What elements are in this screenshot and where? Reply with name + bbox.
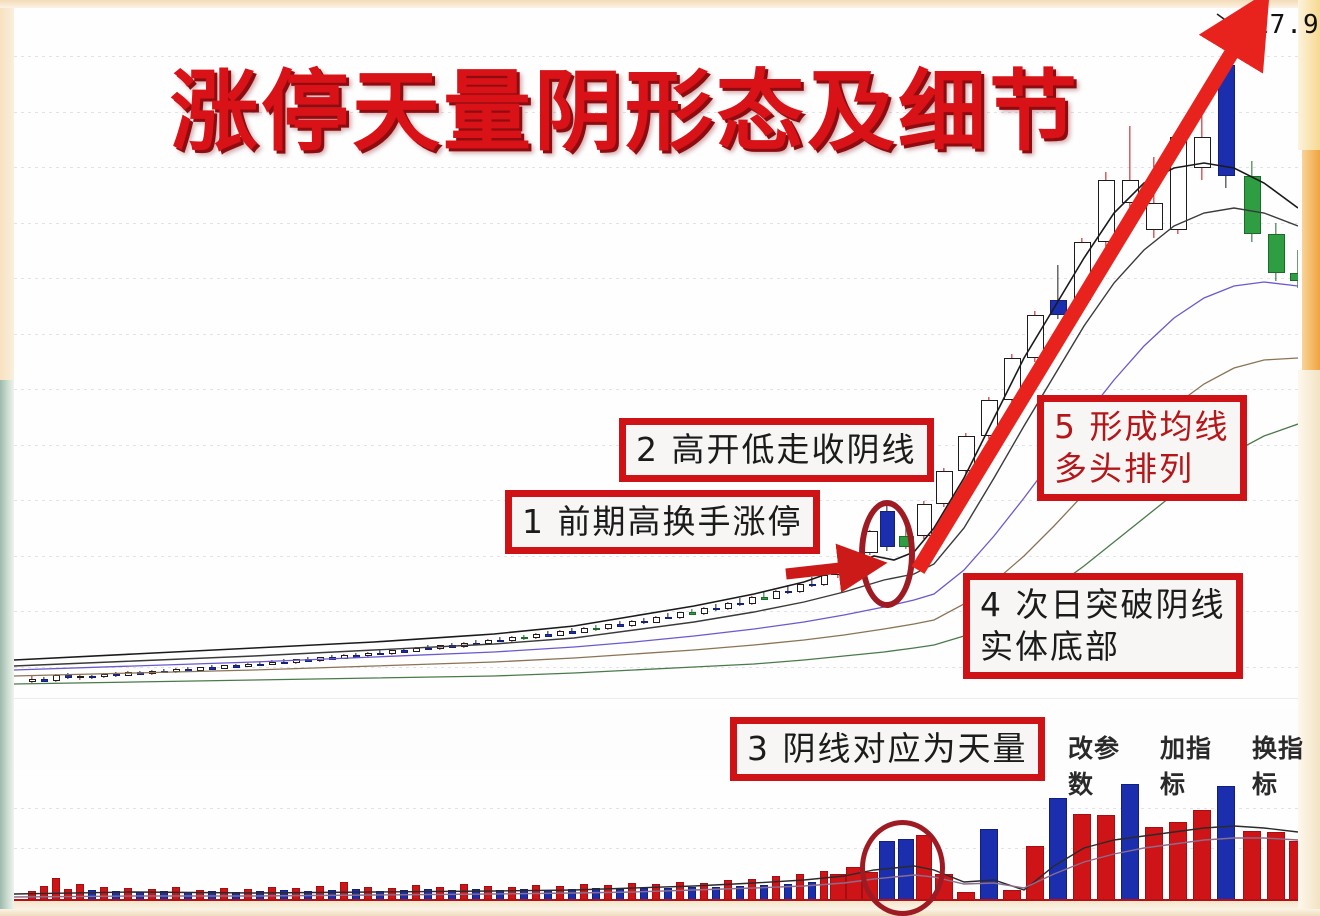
candle-body — [173, 669, 180, 672]
candlestick — [293, 659, 300, 664]
candle-body — [809, 584, 816, 587]
candle-body — [389, 650, 396, 653]
switch-indicator-button[interactable]: 换指标 — [1252, 729, 1320, 801]
candle-body — [125, 672, 132, 675]
candle-body — [437, 645, 444, 649]
candlestick — [773, 590, 780, 599]
volume-bar — [796, 874, 804, 900]
candle-body — [737, 603, 744, 606]
candlestick — [1244, 161, 1261, 242]
candlestick — [521, 635, 528, 640]
gridline — [14, 334, 1298, 335]
candlestick — [1074, 238, 1091, 304]
candle-body — [581, 628, 588, 633]
gridline — [14, 56, 1298, 57]
candlestick — [29, 676, 36, 683]
candlestick — [137, 671, 144, 675]
candlestick — [713, 604, 720, 611]
volume-bar — [748, 879, 756, 900]
candlestick — [593, 625, 600, 631]
volume-bar — [820, 871, 828, 900]
candle-body — [1074, 242, 1091, 300]
volume-bar — [700, 883, 708, 900]
candle-body — [821, 575, 828, 585]
candlestick — [831, 566, 846, 578]
candle-body — [1146, 203, 1163, 230]
candlestick — [958, 433, 975, 474]
candlestick — [377, 650, 384, 655]
page-border-right-mid — [1302, 150, 1320, 370]
candle-body — [936, 471, 953, 504]
candlestick — [461, 642, 468, 648]
candlestick — [689, 609, 696, 616]
candlestick — [749, 596, 756, 605]
candle-body — [233, 665, 240, 668]
candlestick — [173, 668, 180, 673]
annotation-note-3: 3 阴线对应为天量 — [730, 717, 1045, 781]
candlestick — [161, 669, 168, 673]
candle-body — [677, 612, 684, 618]
candlestick — [605, 624, 612, 631]
candle-body — [831, 568, 846, 576]
candlestick — [1122, 126, 1139, 211]
volume-bar — [580, 884, 588, 900]
candle-body — [101, 674, 108, 677]
candle-body — [1050, 300, 1067, 315]
candle-body — [497, 640, 504, 643]
volume-bar — [1097, 815, 1115, 900]
candle-body — [89, 676, 96, 679]
candle-body — [701, 608, 708, 614]
candlestick — [1027, 311, 1044, 361]
candle-body — [1027, 315, 1044, 358]
candlestick — [917, 501, 932, 539]
candlestick — [936, 468, 953, 507]
volume-bar — [484, 886, 492, 900]
candlestick — [401, 648, 408, 653]
candle-body — [209, 667, 216, 670]
candlestick — [209, 665, 216, 669]
annotation-note-5: 5 形成均线 多头排列 — [1037, 395, 1247, 501]
candlestick — [113, 672, 120, 677]
candle-body — [365, 653, 372, 656]
candle-body — [569, 631, 576, 634]
candlestick — [233, 664, 240, 668]
candlestick — [281, 659, 288, 664]
candle-body — [725, 603, 732, 610]
candlestick — [353, 653, 360, 658]
candle-body — [341, 655, 348, 658]
candle-body — [293, 659, 300, 662]
candlestick — [1098, 172, 1115, 249]
candle-body — [605, 624, 612, 629]
candle-body — [1098, 180, 1115, 242]
candle-body — [665, 617, 672, 620]
candle-body — [1004, 358, 1021, 400]
volume-bar — [556, 886, 564, 900]
price-pane-baseline — [14, 698, 1298, 699]
candle-body — [137, 672, 144, 675]
volume-bar — [340, 882, 348, 900]
candlestick — [641, 618, 648, 624]
candlestick — [1218, 60, 1235, 188]
candle-body — [653, 617, 660, 623]
page-border-left-top — [0, 0, 14, 380]
candle-body — [797, 584, 804, 593]
candle-body — [509, 637, 516, 641]
candlestick — [1194, 99, 1211, 180]
candle-body — [281, 662, 288, 665]
candlestick — [65, 673, 72, 679]
candle-body — [981, 400, 998, 436]
candle-body — [1218, 65, 1235, 176]
candle-body — [269, 662, 276, 665]
gridline — [14, 556, 1298, 557]
candlestick — [485, 639, 492, 645]
candlestick — [1146, 157, 1163, 238]
candlestick — [77, 674, 84, 679]
candle-body — [713, 608, 720, 611]
candle-body — [161, 671, 168, 674]
candlestick — [437, 645, 444, 650]
volume-bar — [76, 884, 84, 900]
candle-body — [689, 612, 696, 615]
candlestick — [41, 677, 48, 682]
candle-body — [533, 634, 540, 638]
volume-bar — [676, 882, 684, 900]
candle-body — [317, 657, 324, 660]
candlestick — [269, 660, 276, 665]
annotation-note-1: 1 前期高换手涨停 — [505, 490, 820, 554]
candlestick — [821, 575, 828, 587]
candle-body — [353, 655, 360, 658]
candlestick — [797, 583, 804, 593]
price-callout-label: 17.98 — [1253, 10, 1320, 40]
candlestick — [701, 607, 708, 615]
candle-body — [1290, 273, 1299, 281]
volume-bar — [760, 885, 768, 900]
candlestick — [1050, 265, 1067, 319]
page-border-right-bottom — [1298, 370, 1320, 916]
candle-body — [1194, 137, 1211, 168]
volume-bar — [316, 886, 324, 900]
highlight-ellipse-huge-volume — [860, 820, 945, 916]
candlestick — [617, 621, 624, 627]
candle-body — [197, 667, 204, 670]
candlestick — [665, 613, 672, 619]
candle-body — [425, 648, 432, 651]
candlestick — [677, 612, 684, 619]
candle-body — [377, 653, 384, 656]
volume-baseline-strip — [14, 901, 1298, 910]
candlestick — [557, 630, 564, 636]
candlestick — [305, 657, 312, 662]
candlestick — [725, 602, 732, 610]
candlestick — [473, 640, 480, 645]
candlestick — [581, 627, 588, 633]
page-title: 涨停天量阴形态及细节 — [170, 58, 1040, 166]
candlestick — [89, 675, 96, 679]
candle-body — [958, 436, 975, 471]
volume-bar — [1289, 841, 1298, 900]
candle-body — [1244, 176, 1261, 234]
volume-bar — [980, 829, 998, 900]
volume-bar — [830, 874, 846, 900]
candlestick — [365, 652, 372, 657]
candlestick — [389, 650, 396, 655]
candle-body — [449, 645, 456, 648]
volume-bar — [652, 884, 660, 900]
volume-bar — [808, 882, 816, 900]
candle-body — [557, 631, 564, 636]
volume-bar — [736, 886, 744, 900]
volume-bar — [532, 885, 540, 900]
candlestick — [809, 577, 816, 587]
highlight-ellipse-bearish-candle — [859, 500, 915, 608]
candlestick — [317, 657, 324, 662]
candlestick — [101, 673, 108, 678]
candle-body — [641, 621, 648, 624]
change-params-button[interactable]: 改参数 — [1068, 729, 1136, 801]
candle-body — [1268, 234, 1285, 273]
candlestick — [569, 628, 576, 633]
volume-bar — [1049, 798, 1067, 900]
candlestick — [449, 643, 456, 648]
candlestick — [737, 598, 744, 605]
annotation-note-4: 4 次日突破阴线 实体底部 — [963, 573, 1243, 679]
candlestick — [1170, 130, 1187, 234]
volume-bar — [40, 886, 48, 900]
candle-body — [521, 637, 528, 640]
candle-body — [401, 650, 408, 653]
candle-body — [461, 643, 468, 647]
candle-body — [413, 648, 420, 652]
gridline — [14, 278, 1298, 279]
candle-body — [65, 675, 72, 678]
candle-body — [473, 643, 480, 646]
volume-bar — [1073, 814, 1091, 901]
volume-bar — [412, 885, 420, 900]
volume-bar — [460, 884, 468, 900]
candlestick — [629, 620, 636, 627]
page-border-left-bottom — [0, 380, 14, 916]
candle-body — [1122, 180, 1139, 203]
candlestick — [1290, 250, 1299, 289]
candlestick — [53, 674, 60, 682]
volume-bar — [1243, 831, 1261, 900]
candlestick — [497, 637, 504, 642]
candle-body — [617, 624, 624, 627]
page-border-top — [0, 0, 1320, 8]
candle-body — [29, 679, 36, 682]
candle-body — [149, 671, 156, 674]
annotation-note-2: 2 高开低走收阴线 — [619, 418, 934, 482]
candle-body — [113, 674, 120, 677]
volume-bar — [1193, 810, 1211, 900]
volume-bar — [1217, 786, 1235, 900]
candlestick — [221, 665, 228, 670]
candlestick — [1268, 223, 1285, 281]
candlestick — [509, 636, 516, 642]
candlestick — [257, 662, 264, 666]
stock-chart-page: 涨停天量阴形态及细节 17.98 1 前期高换手涨停 2 高开低走收阴线 3 阴… — [0, 0, 1320, 916]
candlestick — [149, 670, 156, 675]
volume-bar — [1145, 827, 1163, 900]
candle-body — [185, 669, 192, 672]
candlestick — [785, 585, 792, 594]
candle-body — [917, 504, 932, 536]
candle-body — [53, 675, 60, 681]
candlestick — [425, 645, 432, 650]
volume-bar — [772, 876, 780, 900]
volume-bar — [1121, 784, 1139, 900]
volume-bar — [724, 880, 732, 900]
add-indicator-button[interactable]: 加指标 — [1160, 729, 1228, 801]
candlestick — [197, 667, 204, 672]
candlestick — [545, 631, 552, 636]
gridline — [14, 167, 1298, 168]
volume-bar — [1169, 822, 1187, 900]
candle-wick — [1297, 250, 1298, 289]
candlestick — [185, 667, 192, 671]
volume-bar — [1267, 832, 1285, 900]
candlestick — [413, 647, 420, 652]
candlestick — [245, 663, 252, 668]
indicator-toolbar[interactable]: 改参数 加指标 换指标 — [1068, 729, 1320, 801]
candle-body — [593, 628, 600, 631]
candle-body — [545, 634, 552, 637]
candle-body — [761, 597, 768, 600]
candle-body — [785, 591, 792, 594]
candle-body — [41, 679, 48, 682]
candlestick — [761, 592, 768, 600]
candlestick — [653, 616, 660, 623]
candle-body — [749, 597, 756, 604]
candlestick — [341, 654, 348, 659]
candlestick — [329, 655, 336, 660]
candle-body — [629, 621, 636, 626]
candle-body — [221, 665, 228, 668]
volume-bar — [1026, 846, 1044, 900]
candle-body — [329, 657, 336, 660]
volume-bar — [628, 883, 636, 900]
candle-body — [257, 664, 264, 667]
candle-body — [485, 640, 492, 645]
volume-bar — [52, 878, 60, 900]
volume-bar — [604, 885, 612, 900]
candlestick — [981, 397, 998, 440]
candle-body — [305, 659, 312, 662]
volume-zero-line — [14, 899, 1298, 901]
candlestick — [1004, 354, 1021, 404]
page-border-bottom — [0, 909, 1320, 916]
candle-body — [77, 676, 84, 679]
candle-body — [773, 591, 780, 599]
gridline — [14, 808, 1298, 809]
volume-bar — [784, 884, 792, 900]
candle-body — [245, 664, 252, 667]
candlestick — [125, 671, 132, 676]
gridline — [14, 389, 1298, 390]
candle-body — [1170, 137, 1187, 230]
candlestick — [533, 633, 540, 639]
